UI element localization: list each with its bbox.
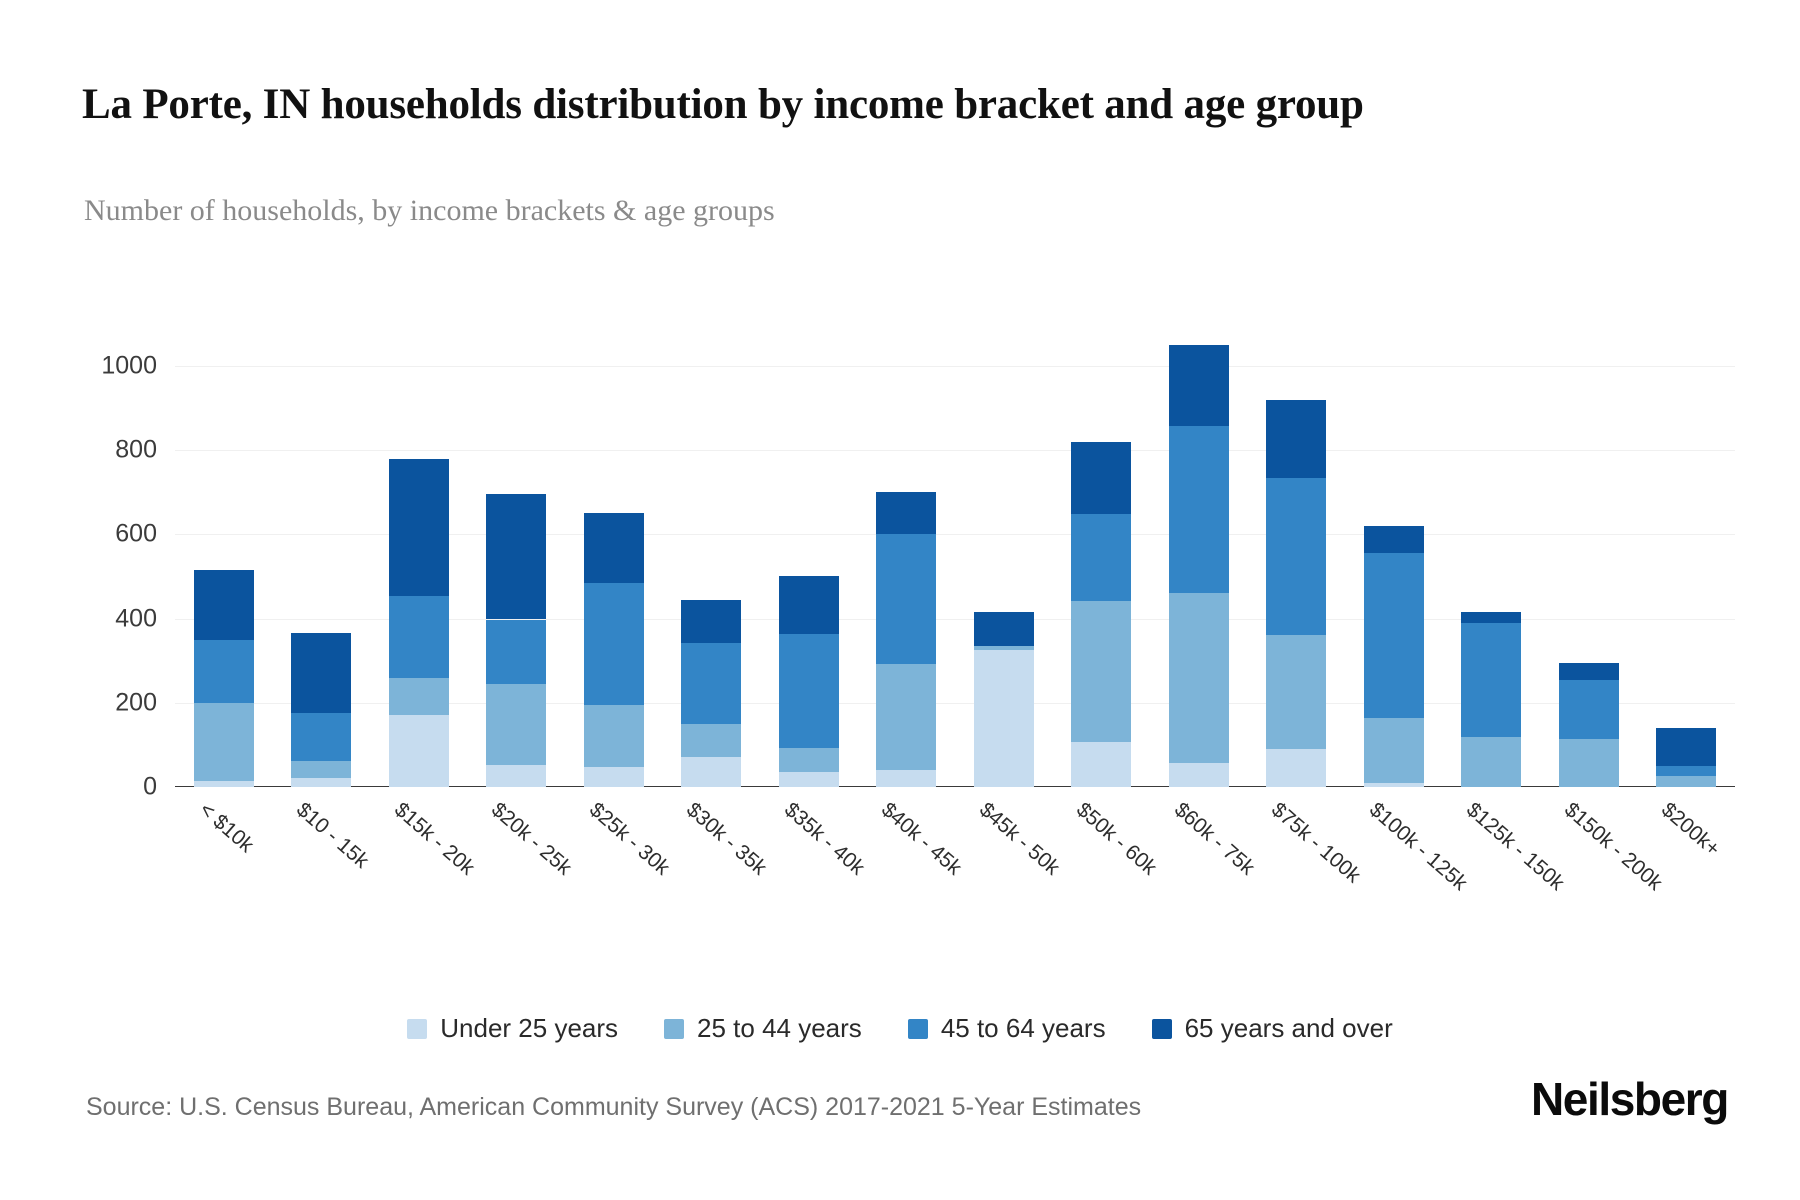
x-axis-tick-label: $200k+ [1657,798,1725,862]
bar-segment[interactable] [1071,442,1131,514]
bar-segment[interactable] [1656,776,1716,787]
bar-segment[interactable] [486,765,546,787]
bar-segment[interactable] [1071,601,1131,742]
bar-segment[interactable] [486,494,546,619]
bar-segment[interactable] [681,600,741,643]
bar-segment[interactable] [486,684,546,765]
bar-segment[interactable] [876,492,936,534]
legend-swatch-icon [664,1019,684,1039]
bar-segment[interactable] [1266,478,1326,635]
x-axis-tick-label: $45k - 50k [974,798,1064,880]
y-axis-tick-label: 0 [47,773,157,802]
y-axis-tick-label: 1000 [47,352,157,381]
x-axis-tick-label: < $10k [194,798,258,858]
bar-segment[interactable] [194,703,254,781]
bar-segment[interactable] [1559,663,1619,680]
x-axis-tick-label: $125k - 150k [1462,798,1569,896]
bar-segment[interactable] [1169,345,1229,426]
bar-segment[interactable] [584,767,644,787]
bar-segment[interactable] [389,596,449,679]
x-axis-tick-label: $25k - 30k [584,798,674,880]
bar-segment[interactable] [389,715,449,787]
legend-item[interactable]: 65 years and over [1152,1013,1393,1044]
bar-segment[interactable] [1266,400,1326,478]
bar-stack[interactable] [1364,324,1424,787]
bar-segment[interactable] [389,678,449,715]
bar-segment[interactable] [876,770,936,787]
bar-segment[interactable] [1071,514,1131,600]
bar-segment[interactable] [291,633,351,712]
plot-canvas: 02004006008001000 < $10k$10 - 15k$15k - … [175,324,1735,787]
bar-segment[interactable] [389,459,449,596]
bar-segment[interactable] [1559,680,1619,739]
bar-segment[interactable] [974,612,1034,646]
bar-segment[interactable] [1266,749,1326,787]
bar-segment[interactable] [194,640,254,703]
bar-segment[interactable] [1559,739,1619,787]
bar-stack[interactable] [389,324,449,787]
bar-stack[interactable] [1266,324,1326,787]
bar-segment[interactable] [974,646,1034,650]
bar-segment[interactable] [1461,737,1521,787]
bar-segment[interactable] [1169,426,1229,592]
bar-segment[interactable] [1461,623,1521,737]
bar-stack[interactable] [681,324,741,787]
x-axis-tick-label: $50k - 60k [1072,798,1162,880]
bar-stack[interactable] [1559,324,1619,787]
bar-segment[interactable] [681,757,741,787]
bar-segment[interactable] [584,705,644,767]
bar-segment[interactable] [194,570,254,639]
legend-swatch-icon [908,1019,928,1039]
bar-stack[interactable] [486,324,546,787]
legend-swatch-icon [407,1019,427,1039]
legend-label: Under 25 years [440,1013,618,1044]
bar-segment[interactable] [584,583,644,705]
x-axis-tick-label: $15k - 20k [389,798,479,880]
bar-segment[interactable] [779,634,839,748]
legend-label: 45 to 64 years [941,1013,1106,1044]
bar-segment[interactable] [1656,766,1716,777]
bar-segment[interactable] [1364,783,1424,787]
bar-segment[interactable] [1071,742,1131,787]
chart-page: La Porte, IN households distribution by … [0,0,1800,1200]
x-axis-tick-label: $10 - 15k [292,798,374,874]
x-axis-tick-label: $75k - 100k [1267,798,1366,888]
bar-stack[interactable] [1461,324,1521,787]
x-axis-tick-label: $150k - 200k [1559,798,1666,896]
bar-segment[interactable] [1364,718,1424,783]
legend-item[interactable]: 45 to 64 years [908,1013,1106,1044]
bar-stack[interactable] [876,324,936,787]
brand-logo: Neilsberg [1531,1072,1728,1126]
bar-stack[interactable] [974,324,1034,787]
bar-segment[interactable] [1461,612,1521,623]
source-note: Source: U.S. Census Bureau, American Com… [86,1093,1141,1122]
bar-stack[interactable] [584,324,644,787]
bar-segment[interactable] [291,778,351,787]
bar-segment[interactable] [1364,526,1424,553]
chart-legend: Under 25 years25 to 44 years45 to 64 yea… [0,1013,1800,1044]
bar-segment[interactable] [974,650,1034,787]
bar-stack[interactable] [291,324,351,787]
y-axis-tick-label: 200 [47,688,157,717]
bar-stack[interactable] [194,324,254,787]
bar-segment[interactable] [876,534,936,664]
bar-group [175,324,1735,787]
bar-segment[interactable] [1364,553,1424,717]
bar-segment[interactable] [291,761,351,778]
bar-segment[interactable] [1169,763,1229,787]
bar-stack[interactable] [1071,324,1131,787]
x-axis-tick-label: $35k - 40k [779,798,869,880]
bar-segment[interactable] [779,772,839,787]
bar-stack[interactable] [1656,324,1716,787]
bar-segment[interactable] [291,713,351,761]
bar-segment[interactable] [876,664,936,770]
x-axis-tick-label: $30k - 35k [682,798,772,880]
x-axis-tick-label: $20k - 25k [487,798,577,880]
bar-stack[interactable] [1169,324,1229,787]
bar-segment[interactable] [1266,635,1326,749]
legend-item[interactable]: 25 to 44 years [664,1013,862,1044]
bar-segment[interactable] [779,576,839,634]
legend-swatch-icon [1152,1019,1172,1039]
y-axis-tick-label: 800 [47,436,157,465]
x-axis-tick-label: $40k - 45k [877,798,967,880]
legend-item[interactable]: Under 25 years [407,1013,618,1044]
x-axis-tick-label: $60k - 75k [1169,798,1259,880]
bar-segment[interactable] [681,724,741,757]
legend-label: 25 to 44 years [697,1013,862,1044]
y-axis-tick-label: 600 [47,520,157,549]
bar-segment[interactable] [779,748,839,772]
y-axis-tick-label: 400 [47,604,157,633]
bar-stack[interactable] [779,324,839,787]
bar-segment[interactable] [1169,593,1229,763]
bar-segment[interactable] [584,513,644,582]
x-axis-tick-label: $100k - 125k [1364,798,1471,896]
bar-segment[interactable] [681,643,741,724]
bar-segment[interactable] [486,620,546,684]
bar-segment[interactable] [194,781,254,787]
legend-label: 65 years and over [1185,1013,1393,1044]
bar-segment[interactable] [1656,728,1716,766]
